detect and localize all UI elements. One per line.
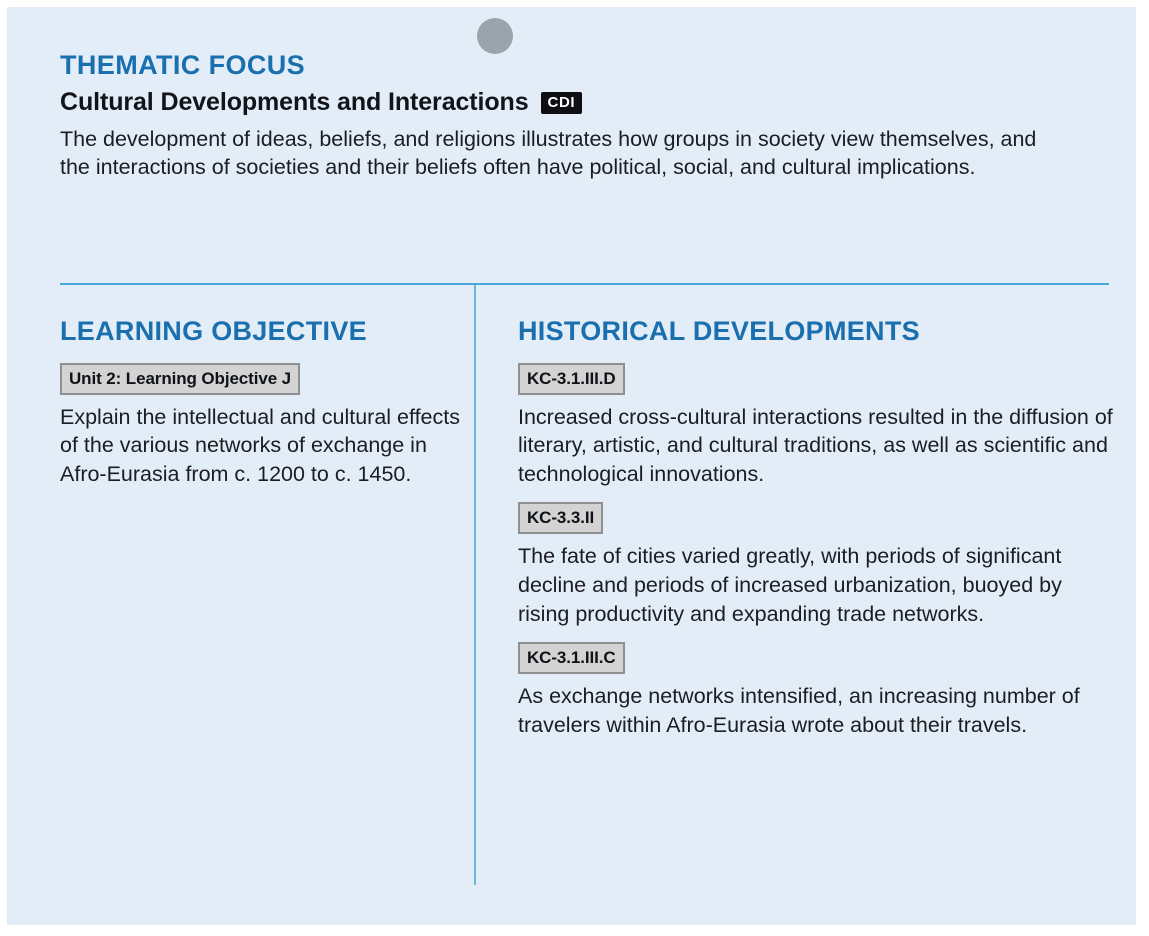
historical-developments-column: HISTORICAL DEVELOPMENTS KC-3.1.III.D Inc… [474, 317, 1116, 739]
header-section: THEMATIC FOCUS Cultural Developments and… [60, 50, 1108, 182]
historical-development-item: KC-3.1.III.C As exchange networks intens… [518, 642, 1116, 739]
page-root: THEMATIC FOCUS Cultural Developments and… [0, 0, 1149, 936]
historical-development-text: The fate of cities varied greatly, with … [518, 542, 1116, 628]
historical-development-text: As exchange networks intensified, an inc… [518, 682, 1116, 739]
historical-development-item: KC-3.3.II The fate of cities varied grea… [518, 502, 1116, 628]
learning-objective-text: Explain the intellectual and cultural ef… [60, 403, 464, 489]
learning-objective-code-badge: Unit 2: Learning Objective J [60, 363, 300, 395]
historical-development-code-badge: KC-3.3.II [518, 502, 603, 534]
page-title: Cultural Developments and Interactions [60, 87, 529, 117]
historical-developments-heading: HISTORICAL DEVELOPMENTS [518, 317, 1116, 347]
historical-development-code-badge: KC-3.1.III.C [518, 642, 625, 674]
historical-development-code-badge: KC-3.1.III.D [518, 363, 625, 395]
learning-objective-column: LEARNING OBJECTIVE Unit 2: Learning Obje… [60, 317, 474, 739]
thematic-focus-panel: THEMATIC FOCUS Cultural Developments and… [7, 7, 1136, 925]
thematic-focus-description: The development of ideas, beliefs, and r… [60, 125, 1060, 182]
cdi-theme-badge: CDI [541, 92, 583, 114]
columns-wrapper: LEARNING OBJECTIVE Unit 2: Learning Obje… [60, 317, 1116, 739]
historical-development-item: KC-3.1.III.D Increased cross-cultural in… [518, 363, 1116, 489]
learning-objective-heading: LEARNING OBJECTIVE [60, 317, 464, 347]
horizontal-divider [60, 283, 1109, 285]
historical-development-text: Increased cross-cultural interactions re… [518, 403, 1116, 489]
thematic-focus-eyebrow: THEMATIC FOCUS [60, 50, 1108, 81]
decorative-circle-icon [477, 18, 513, 54]
thematic-focus-title-row: Cultural Developments and Interactions C… [60, 87, 1108, 117]
